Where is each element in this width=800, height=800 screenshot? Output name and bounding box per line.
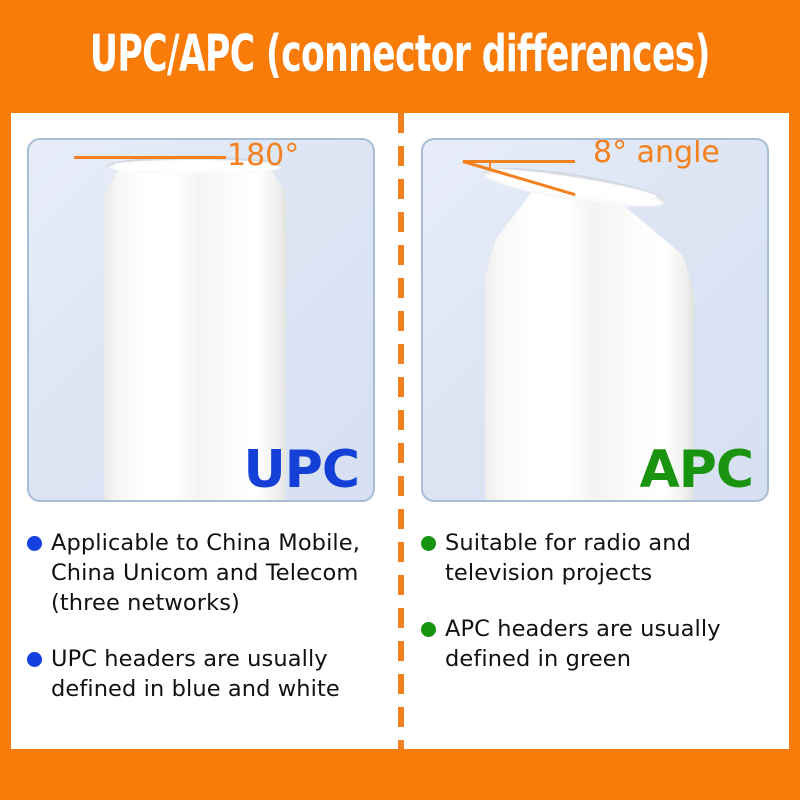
column-apc: 8° angle APC Suitable for radio and tele… xyxy=(400,113,789,749)
apc-image-card: 8° angle APC xyxy=(421,138,769,502)
bullet-dot-icon xyxy=(27,536,42,551)
page-title: UPC/APC (connector differences) xyxy=(90,29,710,80)
upc-card-label: UPC xyxy=(244,444,360,496)
column-upc: 180° UPC Applicable to China Mobile, Chi… xyxy=(11,113,400,749)
angle-180-line-icon xyxy=(74,156,226,159)
apc-card-label: APC xyxy=(639,444,753,496)
infographic-frame: UPC/APC (connector differences) 180° UPC… xyxy=(0,0,800,800)
angle-8-tick-icon xyxy=(489,160,491,170)
bullet-dot-icon xyxy=(421,536,436,551)
angle-8-horizontal-line-icon xyxy=(463,160,575,163)
list-item-label: UPC headers are usually defined in blue … xyxy=(51,644,340,704)
angle-8-label: 8° angle xyxy=(593,138,720,170)
upc-image-card: 180° UPC xyxy=(27,138,375,502)
list-item: APC headers are usually defined in green xyxy=(421,614,783,674)
list-item: Applicable to China Mobile, China Unicom… xyxy=(27,528,389,618)
title-bar: UPC/APC (connector differences) xyxy=(0,0,800,113)
upc-bullet-list: Applicable to China Mobile, China Unicom… xyxy=(27,528,389,730)
content-panel: 180° UPC Applicable to China Mobile, Chi… xyxy=(11,113,789,749)
apc-bullet-list: Suitable for radio and television projec… xyxy=(421,528,783,700)
list-item: UPC headers are usually defined in blue … xyxy=(27,644,389,704)
bullet-dot-icon xyxy=(27,652,42,667)
angle-180-label: 180° xyxy=(227,138,299,173)
list-item: Suitable for radio and television projec… xyxy=(421,528,783,588)
bullet-dot-icon xyxy=(421,622,436,637)
list-item-label: Applicable to China Mobile, China Unicom… xyxy=(51,528,360,618)
list-item-label: APC headers are usually defined in green xyxy=(445,614,721,674)
list-item-label: Suitable for radio and television projec… xyxy=(445,528,691,588)
